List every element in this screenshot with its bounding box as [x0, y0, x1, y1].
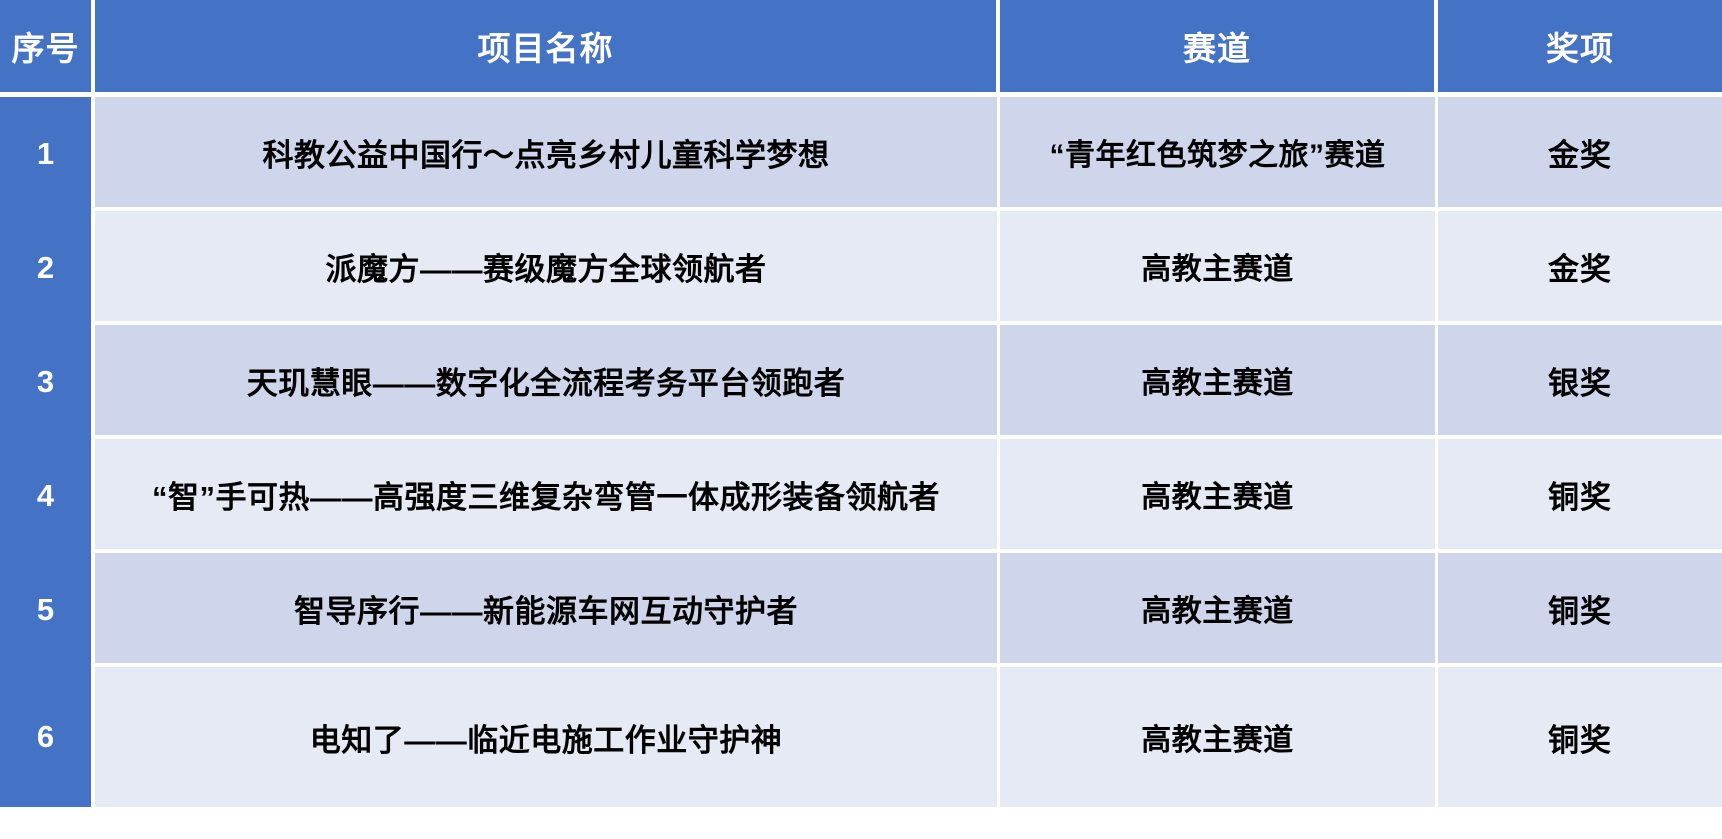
table-row: 1 科教公益中国行～点亮乡村儿童科学梦想 “青年红色筑梦之旅”赛道 金奖: [0, 97, 1722, 211]
row-track: 高教主赛道: [1000, 325, 1438, 439]
table-row: 4 “智”手可热——高强度三维复杂弯管一体成形装备领航者 高教主赛道 铜奖: [0, 439, 1722, 553]
row-project-name: 智导序行——新能源车网互动守护者: [95, 553, 1000, 667]
row-sequence-number: 1: [0, 97, 95, 211]
row-award: 铜奖: [1438, 553, 1722, 667]
row-sequence-number: 4: [0, 439, 95, 553]
column-header-name: 项目名称: [95, 0, 1000, 97]
row-sequence-number: 2: [0, 211, 95, 325]
row-sequence-number: 3: [0, 325, 95, 439]
row-sequence-number: 6: [0, 667, 95, 807]
row-track: 高教主赛道: [1000, 211, 1438, 325]
row-track: 高教主赛道: [1000, 439, 1438, 553]
row-sequence-number: 5: [0, 553, 95, 667]
table-header-row: 序号 项目名称 赛道 奖项: [0, 0, 1722, 97]
table-row: 5 智导序行——新能源车网互动守护者 高教主赛道 铜奖: [0, 553, 1722, 667]
table-header: 序号 项目名称 赛道 奖项: [0, 0, 1722, 97]
column-header-track: 赛道: [1000, 0, 1438, 97]
row-award: 金奖: [1438, 211, 1722, 325]
row-award: 铜奖: [1438, 439, 1722, 553]
row-track: “青年红色筑梦之旅”赛道: [1000, 97, 1438, 211]
row-project-name: 派魔方——赛级魔方全球领航者: [95, 211, 1000, 325]
row-project-name: 电知了——临近电施工作业守护神: [95, 667, 1000, 807]
row-project-name: 科教公益中国行～点亮乡村儿童科学梦想: [95, 97, 1000, 211]
row-award: 银奖: [1438, 325, 1722, 439]
row-project-name: 天玑慧眼——数字化全流程考务平台领跑者: [95, 325, 1000, 439]
table-row: 3 天玑慧眼——数字化全流程考务平台领跑者 高教主赛道 银奖: [0, 325, 1722, 439]
row-award: 金奖: [1438, 97, 1722, 211]
column-header-seq: 序号: [0, 0, 95, 97]
column-header-award: 奖项: [1438, 0, 1722, 97]
table-body: 1 科教公益中国行～点亮乡村儿童科学梦想 “青年红色筑梦之旅”赛道 金奖 2 派…: [0, 97, 1722, 807]
row-track: 高教主赛道: [1000, 553, 1438, 667]
table-row: 2 派魔方——赛级魔方全球领航者 高教主赛道 金奖: [0, 211, 1722, 325]
row-track: 高教主赛道: [1000, 667, 1438, 807]
table-row: 6 电知了——临近电施工作业守护神 高教主赛道 铜奖: [0, 667, 1722, 807]
award-list-table: 序号 项目名称 赛道 奖项 1 科教公益中国行～点亮乡村儿童科学梦想 “青年红色…: [0, 0, 1722, 807]
row-project-name: “智”手可热——高强度三维复杂弯管一体成形装备领航者: [95, 439, 1000, 553]
row-award: 铜奖: [1438, 667, 1722, 807]
